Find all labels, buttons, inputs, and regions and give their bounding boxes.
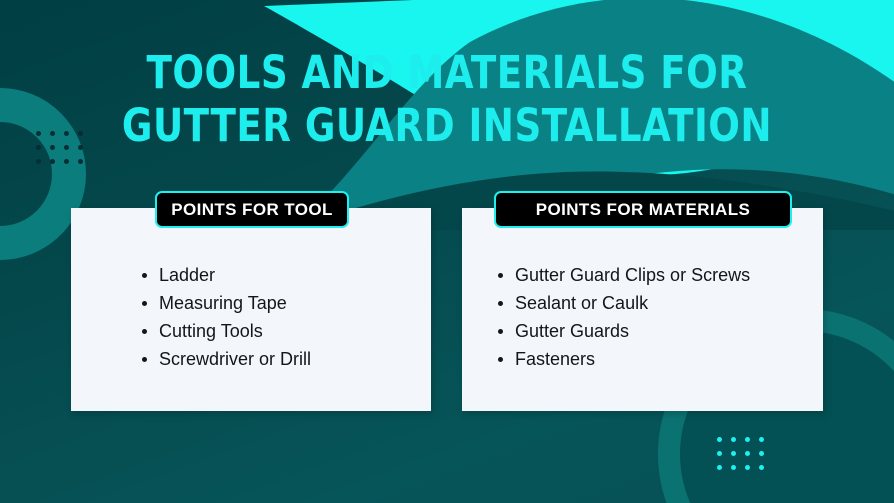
dot [745, 465, 750, 470]
list-item: Measuring Tape [142, 289, 311, 317]
dot [717, 451, 722, 456]
tools-list: Ladder Measuring Tape Cutting Tools Scre… [142, 261, 311, 373]
list-item: Screwdriver or Drill [142, 345, 311, 373]
dot [717, 437, 722, 442]
list-item: Gutter Guard Clips or Screws [498, 261, 750, 289]
dot [731, 451, 736, 456]
dot [759, 465, 764, 470]
dot [717, 465, 722, 470]
dot [731, 437, 736, 442]
dot [50, 159, 55, 164]
list-item: Ladder [142, 261, 311, 289]
dot [745, 451, 750, 456]
dot [759, 451, 764, 456]
poster-canvas: Tools and Materials for Gutter Guard Ins… [0, 0, 894, 503]
list-item: Fasteners [498, 345, 750, 373]
list-item: Gutter Guards [498, 317, 750, 345]
tools-card-badge: Points for Tool [155, 191, 349, 228]
dot [78, 159, 83, 164]
list-item: Sealant or Caulk [498, 289, 750, 317]
dot [745, 437, 750, 442]
right-dot-grid-decoration [717, 437, 764, 470]
dot [64, 159, 69, 164]
dot [36, 159, 41, 164]
dot [759, 437, 764, 442]
materials-card-badge: Points for Materials [494, 191, 792, 228]
dot [731, 465, 736, 470]
materials-list: Gutter Guard Clips or Screws Sealant or … [498, 261, 750, 373]
poster-title: Tools and Materials for Gutter Guard Ins… [36, 46, 858, 152]
list-item: Cutting Tools [142, 317, 311, 345]
